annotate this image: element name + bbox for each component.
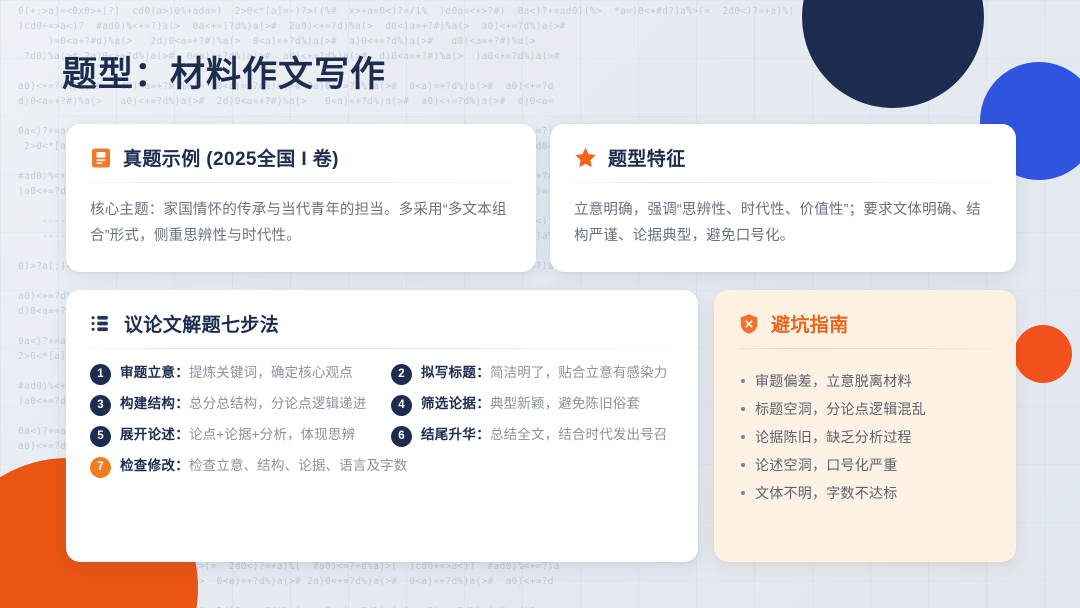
step-description: 拟写标题：简洁明了，贴合立意有感染力 xyxy=(421,363,667,384)
step-name: 展开论述： xyxy=(120,427,189,442)
step-name: 结尾升华： xyxy=(421,427,490,442)
header-divider xyxy=(738,348,992,349)
step-number-badge: 1 xyxy=(90,364,111,385)
card-seven-step-method: 议论文解题七步法 1审题立意：提炼关键词，确定核心观点2拟写标题：简洁明了，贴合… xyxy=(66,290,698,562)
card-title: 避坑指南 xyxy=(771,310,849,337)
step-name: 构建结构： xyxy=(120,396,189,411)
step-description: 审题立意：提炼关键词，确定核心观点 xyxy=(120,363,353,384)
card-title: 真题示例 (2025全国 I 卷) xyxy=(123,144,339,171)
step-description: 筛选论据：典型新颖，避免陈旧俗套 xyxy=(421,394,640,415)
card-header: 真题示例 (2025全国 I 卷) xyxy=(90,144,512,182)
pitfall-list-item: 论据陈旧，缺乏分析过程 xyxy=(738,423,992,451)
step-item: 1审题立意：提炼关键词，确定核心观点 xyxy=(90,363,373,385)
step-name: 筛选论据： xyxy=(421,396,490,411)
step-number-badge: 4 xyxy=(391,395,412,416)
step-name: 拟写标题： xyxy=(421,365,490,380)
pitfall-list-item: 论述空洞，口号化严重 xyxy=(738,451,992,479)
steps-grid: 1审题立意：提炼关键词，确定核心观点2拟写标题：简洁明了，贴合立意有感染力3构建… xyxy=(90,363,674,478)
step-description: 检查修改：检查立意、结构、论据、语言及字数 xyxy=(120,456,407,477)
step-description: 展开论述：论点+论据+分析，体现思辨 xyxy=(120,425,355,446)
step-item: 3构建结构：总分总结构，分论点逻辑递进 xyxy=(90,394,373,416)
header-divider xyxy=(90,348,674,349)
pitfall-list-item: 审题偏差，立意脱离材料 xyxy=(738,367,992,395)
star-icon xyxy=(574,146,597,169)
page-title: 题型：材料作文写作 xyxy=(62,46,386,97)
header-divider xyxy=(90,182,512,183)
header-divider xyxy=(574,182,992,183)
pitfall-list-item: 文体不明，字数不达标 xyxy=(738,479,992,507)
card-body-text: 立意明确，强调“思辨性、时代性、价值性”；要求文体明确、结构严谨、论据典型，避免… xyxy=(574,197,992,250)
shield-x-icon xyxy=(738,313,760,335)
book-icon xyxy=(90,147,112,169)
step-number-badge: 3 xyxy=(90,395,111,416)
card-real-exam-example: 真题示例 (2025全国 I 卷) 核心主题：家国情怀的传承与当代青年的担当。多… xyxy=(66,124,536,272)
card-header: 议论文解题七步法 xyxy=(90,310,674,348)
step-item: 4筛选论据：典型新颖，避免陈旧俗套 xyxy=(391,394,674,416)
card-pitfall-guide: 避坑指南 审题偏差，立意脱离材料标题空洞，分论点逻辑混乱论据陈旧，缺乏分析过程论… xyxy=(714,290,1016,562)
pitfall-list-item: 标题空洞，分论点逻辑混乱 xyxy=(738,395,992,423)
step-number-badge: 7 xyxy=(90,457,111,478)
step-item: 2拟写标题：简洁明了，贴合立意有感染力 xyxy=(391,363,674,385)
card-question-type-features: 题型特征 立意明确，强调“思辨性、时代性、价值性”；要求文体明确、结构严谨、论据… xyxy=(550,124,1016,272)
step-item: 5展开论述：论点+论据+分析，体现思辨 xyxy=(90,425,373,447)
card-header: 题型特征 xyxy=(574,144,992,182)
step-name: 审题立意： xyxy=(120,365,189,380)
list-icon xyxy=(90,312,113,335)
card-title: 题型特征 xyxy=(608,144,686,171)
card-header: 避坑指南 xyxy=(738,310,992,348)
step-name: 检查修改： xyxy=(120,458,189,473)
step-number-badge: 2 xyxy=(391,364,412,385)
step-item: 7检查修改：检查立意、结构、论据、语言及字数 xyxy=(90,456,674,478)
card-body-text: 核心主题：家国情怀的传承与当代青年的担当。多采用“多文本组合”形式，侧重思辨性与… xyxy=(90,197,512,250)
step-number-badge: 5 xyxy=(90,426,111,447)
step-description: 结尾升华：总结全文，结合时代发出号召 xyxy=(421,425,667,446)
card-title: 议论文解题七步法 xyxy=(124,310,279,337)
step-item: 6结尾升华：总结全文，结合时代发出号召 xyxy=(391,425,674,447)
step-number-badge: 6 xyxy=(391,426,412,447)
pitfall-list: 审题偏差，立意脱离材料标题空洞，分论点逻辑混乱论据陈旧，缺乏分析过程论述空洞，口… xyxy=(738,367,992,507)
step-description: 构建结构：总分总结构，分论点逻辑递进 xyxy=(120,394,366,415)
decorative-circle-orange-small xyxy=(1014,325,1072,383)
